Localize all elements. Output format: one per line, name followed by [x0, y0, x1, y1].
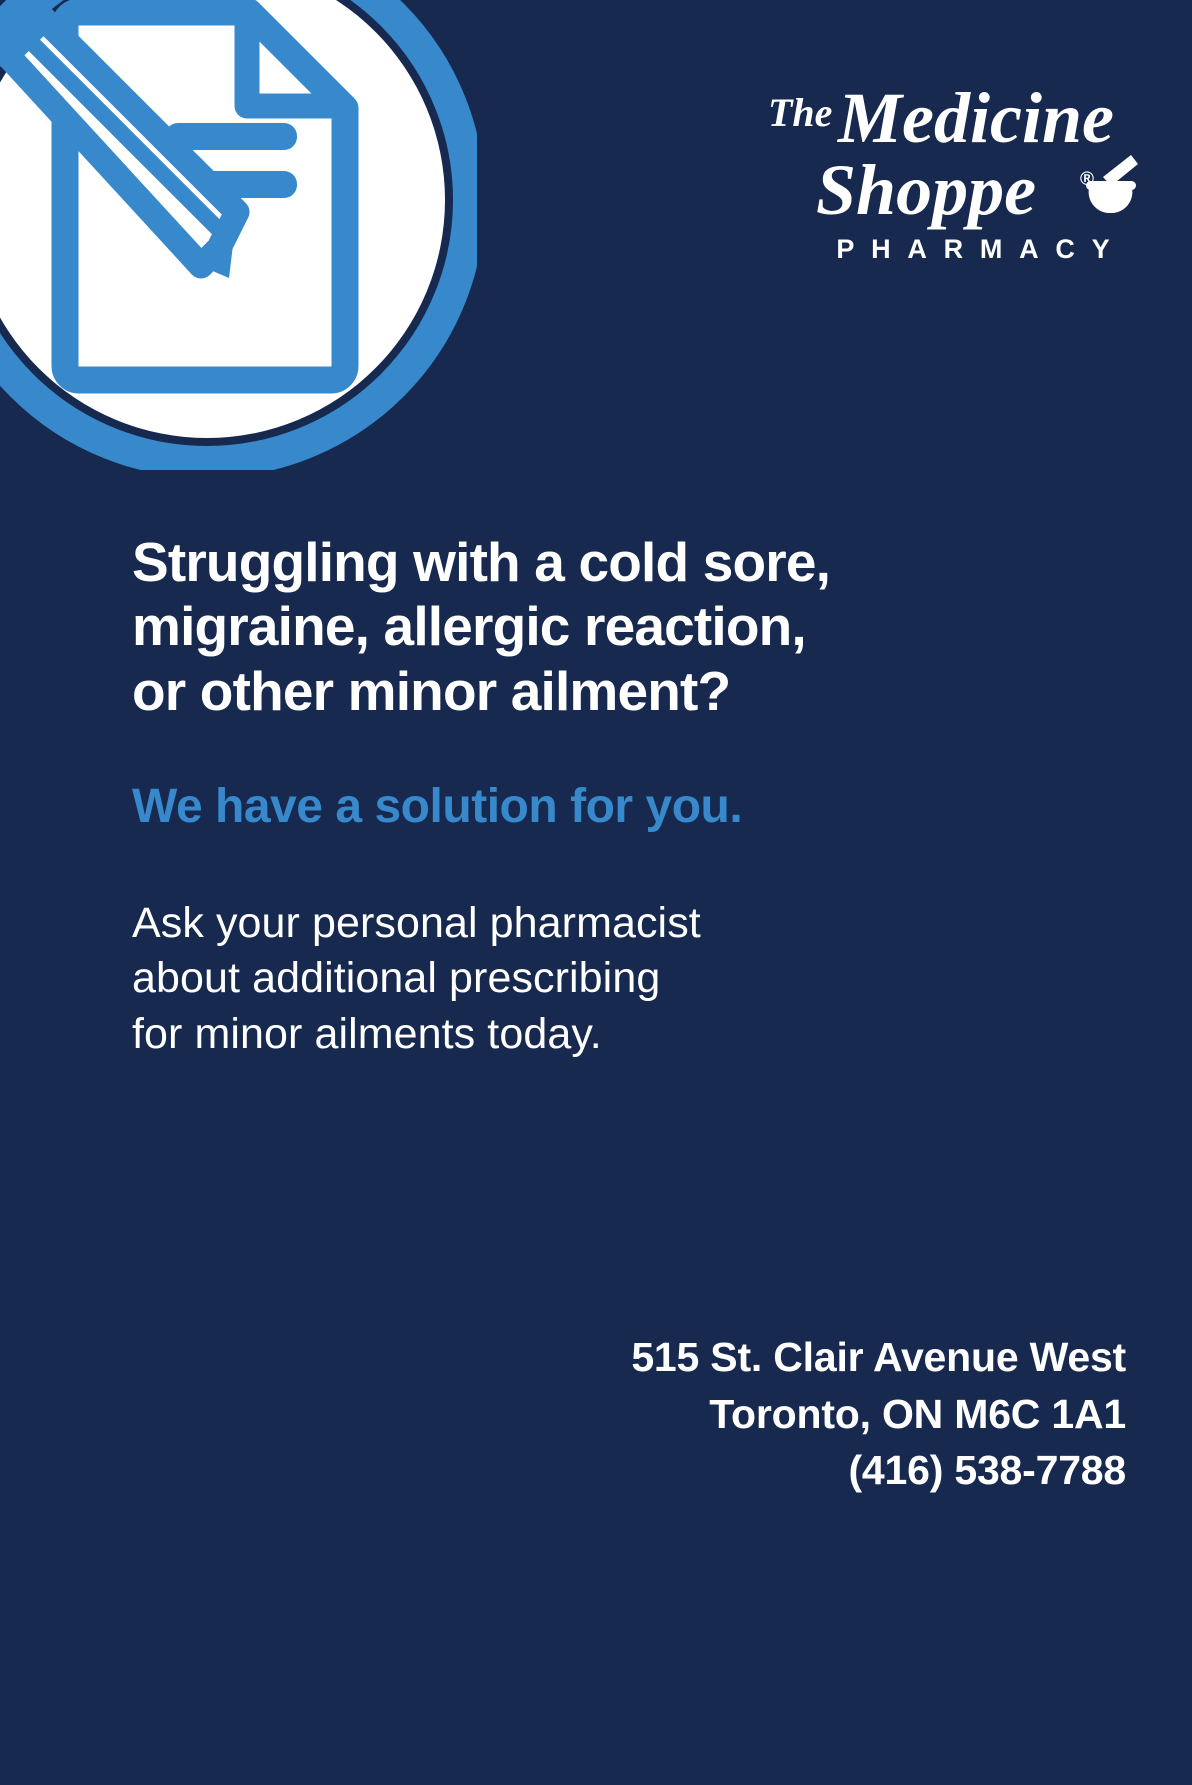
medicine-shoppe-logo: The Medicine Shoppe ® PHARMACY	[720, 80, 1140, 265]
document-pencil-badge	[0, 0, 477, 470]
body-copy: Ask your personal pharmacist about addit…	[132, 896, 1122, 1062]
address-phone[interactable]: (416) 538-7788	[631, 1442, 1126, 1499]
logo-script-medicine: Medicine	[837, 80, 1114, 158]
headline-line-3: or other minor ailment?	[132, 659, 952, 723]
address-city-province-postal: Toronto, ON M6C 1A1	[631, 1386, 1126, 1443]
body-copy-line-3: for minor ailments today.	[132, 1007, 1122, 1062]
poster-content: Struggling with a cold sore, migraine, a…	[132, 530, 1122, 1062]
headline-line-1: Struggling with a cold sore,	[132, 530, 952, 594]
pharmacy-poster: The Medicine Shoppe ® PHARMACY Strugglin…	[0, 0, 1192, 1785]
body-copy-line-2: about additional prescribing	[132, 951, 1122, 1006]
logo-tagline: PHARMACY	[720, 234, 1140, 265]
logo-script-the: The	[768, 90, 832, 135]
subheadline: We have a solution for you.	[132, 781, 1122, 834]
headline-line-2: migraine, allergic reaction,	[132, 594, 952, 658]
body-copy-line-1: Ask your personal pharmacist	[132, 896, 1122, 951]
address-street: 515 St. Clair Avenue West	[631, 1329, 1126, 1386]
logo-script-shoppe: Shoppe	[816, 150, 1036, 230]
mortar-and-pestle-icon	[1086, 155, 1138, 213]
headline: Struggling with a cold sore, migraine, a…	[132, 530, 952, 723]
store-address-block: 515 St. Clair Avenue West Toronto, ON M6…	[631, 1329, 1126, 1499]
